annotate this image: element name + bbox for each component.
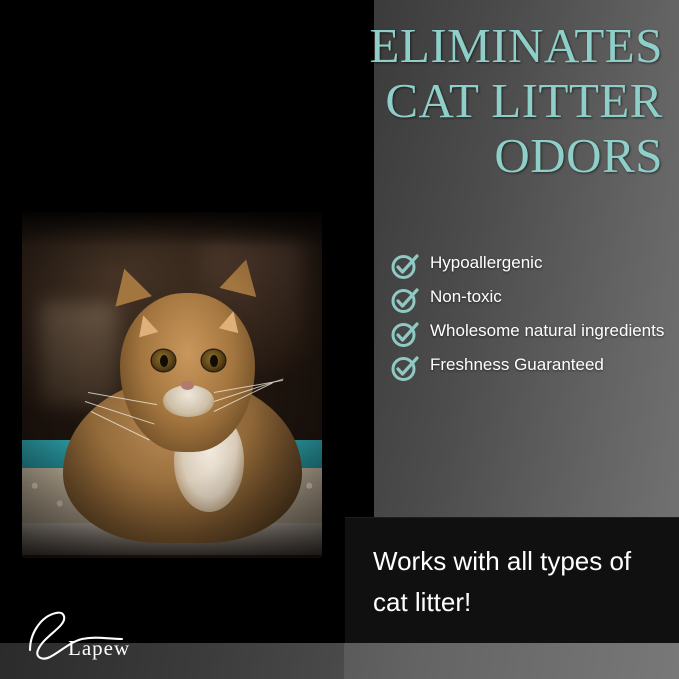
check-circle-icon — [390, 319, 420, 349]
feature-label: Wholesome natural ingredients — [430, 318, 664, 344]
feature-list: Hypoallergenic Non-toxic Wholesome natur… — [390, 250, 675, 386]
feature-item: Wholesome natural ingredients — [390, 318, 675, 349]
kitten — [100, 254, 268, 538]
check-circle-icon — [390, 251, 420, 281]
feature-label: Hypoallergenic — [430, 250, 542, 276]
kitten-whiskers — [120, 293, 254, 452]
callout-text: Works with all types of cat litter! — [373, 541, 663, 623]
feature-label: Non-toxic — [430, 284, 502, 310]
callout-box: Works with all types of cat litter! — [345, 517, 679, 643]
feature-item: Non-toxic — [390, 284, 675, 315]
kitten-ear-right — [220, 255, 265, 297]
logo-wordmark: Lapew — [68, 636, 130, 661]
product-poster: ELIMINATES CAT LITTER ODORS — [0, 0, 679, 679]
check-circle-icon — [390, 285, 420, 315]
headline: ELIMINATES CAT LITTER ODORS — [263, 18, 663, 183]
headline-line-3: ODORS — [263, 128, 663, 183]
feature-item: Freshness Guaranteed — [390, 352, 675, 383]
kitten-head — [120, 293, 254, 452]
kitten-litterbox-photo — [22, 212, 322, 558]
check-circle-icon — [390, 353, 420, 383]
headline-line-2: CAT LITTER — [263, 73, 663, 128]
photo-top-shadow — [22, 212, 322, 247]
feature-item: Hypoallergenic — [390, 250, 675, 281]
feature-label: Freshness Guaranteed — [430, 352, 604, 378]
headline-line-1: ELIMINATES — [263, 18, 663, 73]
brand-logo: Lapew — [26, 606, 146, 666]
